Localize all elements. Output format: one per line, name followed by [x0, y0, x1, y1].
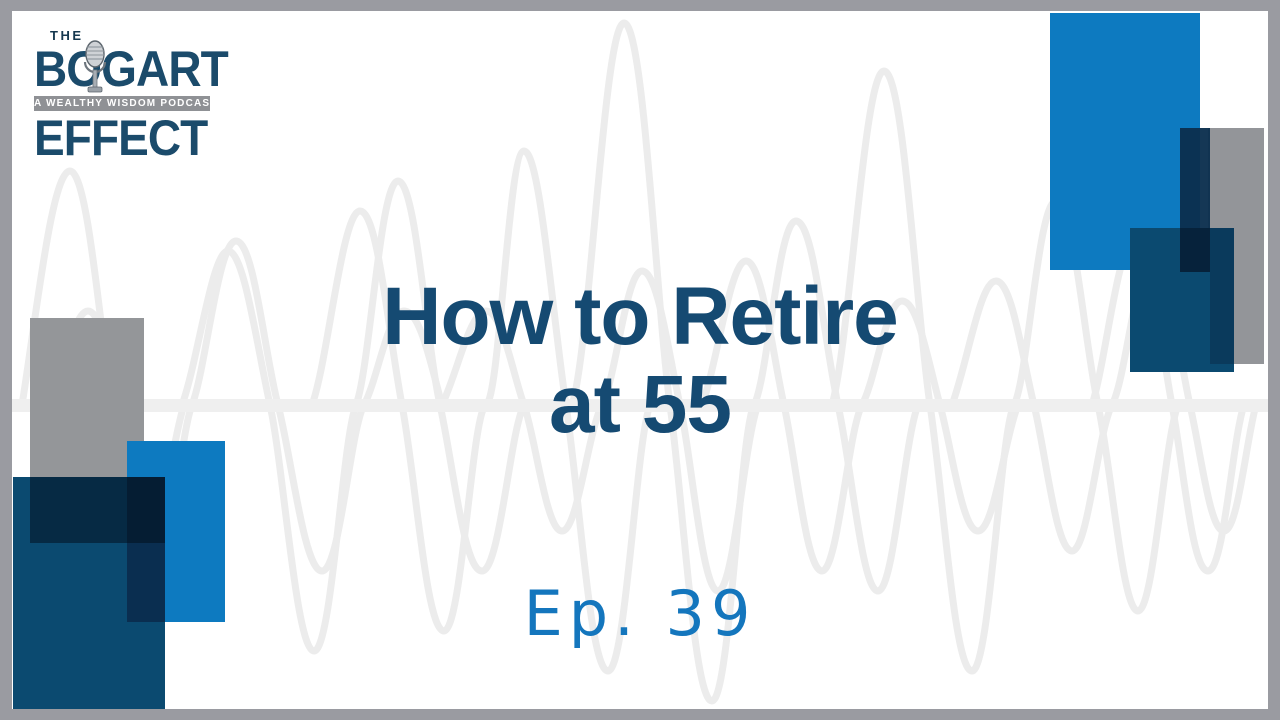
- logo-effect-text: EFFECT: [34, 111, 198, 165]
- bottom-left-navy-blue-overlap-top: [127, 477, 165, 543]
- logo-bogart-row: BOGART: [34, 43, 212, 95]
- episode-thumbnail: THE BOGART A WEALTHY WIS: [0, 0, 1280, 720]
- logo-bogart-text: BOGART: [34, 43, 198, 95]
- logo-tagline-band: A WEALTHY WISDOM PODCAST: [34, 96, 210, 111]
- podcast-logo[interactable]: THE BOGART A WEALTHY WIS: [34, 29, 212, 164]
- top-right-navy-overlap-gray: [1210, 228, 1234, 364]
- page-title: How to Retire at 55: [12, 273, 1268, 449]
- thumbnail-canvas: THE BOGART A WEALTHY WIS: [12, 11, 1268, 709]
- microphone-icon: [81, 40, 109, 98]
- top-right-navy-overlap-dark: [1180, 228, 1210, 272]
- bottom-left-navy-gray-overlap: [30, 477, 127, 543]
- bottom-left-navy-blue-overlap-bottom: [127, 543, 165, 622]
